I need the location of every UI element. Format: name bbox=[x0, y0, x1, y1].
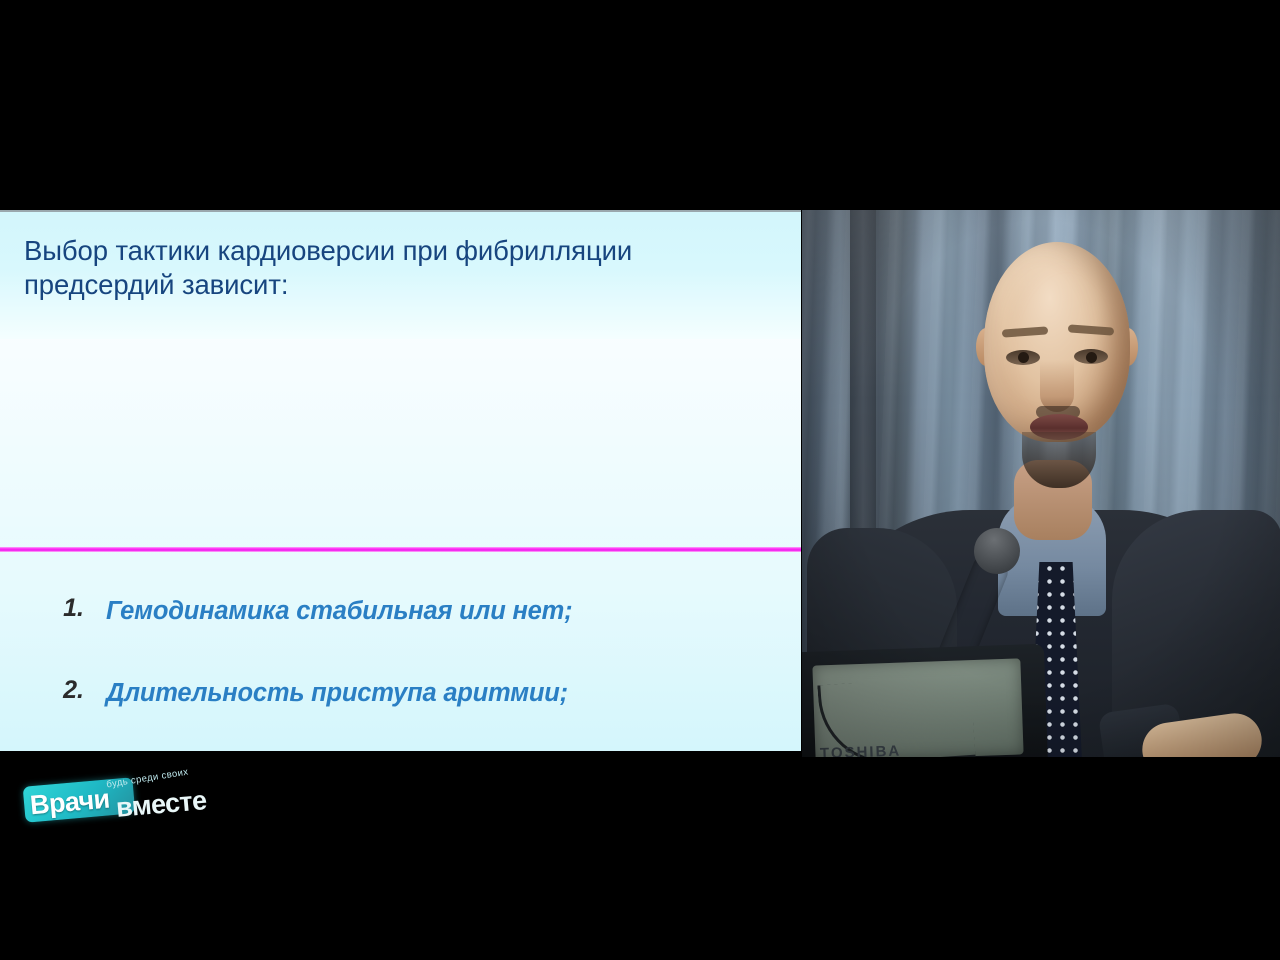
laptop-brand-label: TOSHIBA bbox=[820, 743, 902, 757]
slide-title: Выбор тактики кардиоверсии при фибрилляц… bbox=[24, 234, 754, 302]
speaker-pupil-right bbox=[1086, 352, 1097, 363]
speaker-pupil-left bbox=[1018, 352, 1029, 363]
list-item-number: 2. bbox=[40, 676, 84, 711]
list-item-text: Длительность приступа аритмии; bbox=[84, 676, 568, 711]
video-player-screen: Выбор тактики кардиоверсии при фибрилляц… bbox=[0, 0, 1280, 960]
speaker-video-pane: TOSHIBA bbox=[802, 210, 1280, 757]
speaker-nose bbox=[1040, 360, 1074, 412]
logo-word-vmeste: вместе bbox=[115, 785, 208, 824]
letterbox-bar-top bbox=[0, 0, 1280, 210]
list-item-number: 1. bbox=[40, 594, 84, 629]
list-item: 1. Гемодинамика стабильная или нет; bbox=[40, 594, 572, 629]
slide-divider-line bbox=[0, 547, 801, 552]
list-item-text: Гемодинамика стабильная или нет; bbox=[84, 594, 572, 629]
list-item: 2. Длительность приступа аритмии; bbox=[40, 676, 568, 711]
presentation-slide: Выбор тактики кардиоверсии при фибрилляц… bbox=[0, 210, 801, 751]
brand-logo: будь среди своих Врачи вместе bbox=[16, 770, 216, 822]
